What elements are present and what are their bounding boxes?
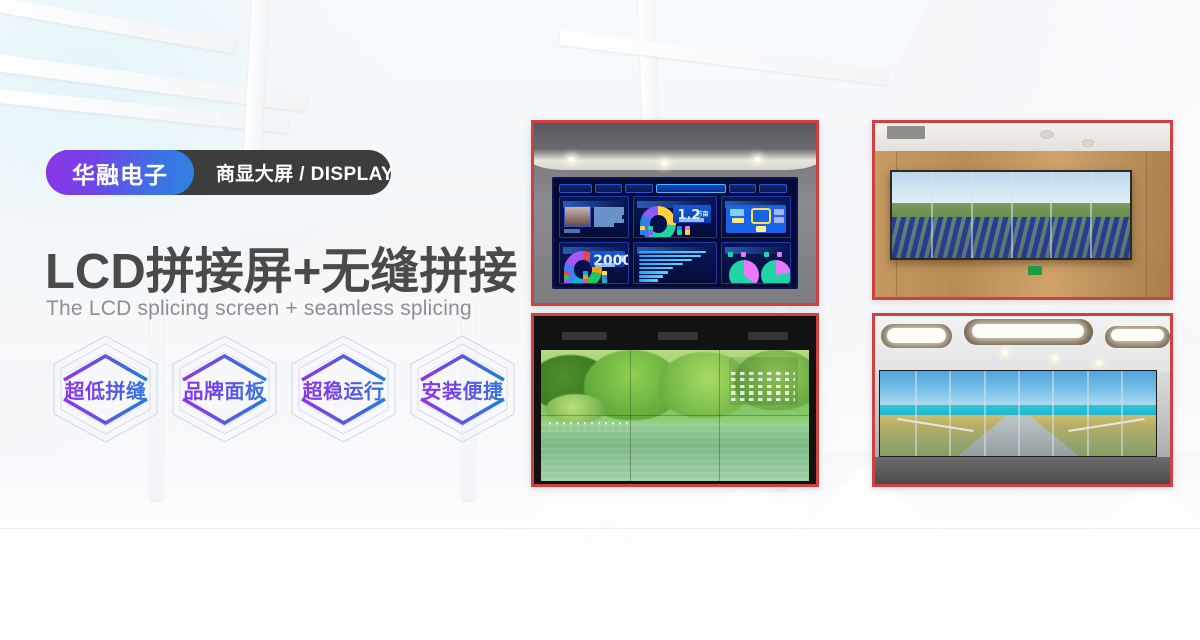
dashboard-metric-unit: 亩 <box>619 254 626 264</box>
ceiling-speaker <box>1040 130 1054 139</box>
pond-water <box>541 424 809 480</box>
brand-category-label: 商显大屏 / DISPLAY <box>194 150 416 195</box>
gallery-photo-solar-video-wall[interactable] <box>872 120 1173 300</box>
gallery-photo-pond-video-wall[interactable] <box>531 313 819 487</box>
feature-badge-3: 安装便捷 <box>403 333 522 445</box>
ceiling-speaker <box>1082 139 1094 147</box>
dashboard-card-grid: 1.2 万亩 <box>559 196 791 284</box>
dashboard-card <box>633 242 718 284</box>
video-wall-screen <box>890 170 1132 260</box>
brand-badge: 华融电子 商显大屏 / DISPLAY <box>46 150 416 195</box>
dashboard-metric-unit: 万亩 <box>696 209 708 218</box>
feature-badge-2: 超稳运行 <box>284 333 403 445</box>
ceiling-vent <box>887 126 925 138</box>
page-title: LCD拼接屏+无缝拼接 <box>45 232 517 303</box>
dashboard-card <box>559 196 628 238</box>
pie-chart <box>761 260 790 284</box>
dashboard-card: 1.2 万亩 <box>633 196 718 238</box>
gallery-photo-beach-video-wall[interactable] <box>872 313 1173 487</box>
video-wall-screen: 1.2 万亩 <box>552 177 797 289</box>
page-subtitle: The LCD splicing screen + seamless splic… <box>46 297 472 321</box>
dashboard-card <box>721 196 790 238</box>
lobby-floor <box>875 457 1170 484</box>
ceiling-light <box>661 161 668 166</box>
ceiling <box>534 123 816 170</box>
ceiling <box>534 316 816 351</box>
exit-sign <box>1028 266 1042 275</box>
ceiling-light <box>1096 360 1102 366</box>
feature-badge-1: 品牌面板 <box>165 333 284 445</box>
cove-light <box>887 328 946 343</box>
dashboard-navbar <box>559 182 791 194</box>
feature-badge-0: 超低拼缝 <box>46 333 165 445</box>
ceiling-light <box>1052 355 1058 361</box>
pie-chart <box>729 260 759 284</box>
calendar-overlay <box>729 357 799 404</box>
feature-label: 品牌面板 <box>165 333 284 445</box>
bar-chart <box>639 251 712 282</box>
dashboard-card <box>721 242 790 284</box>
cove-light <box>972 324 1084 337</box>
video-wall-screen <box>879 370 1156 457</box>
hero-text-block: 华融电子 商显大屏 / DISPLAY LCD拼接屏+无缝拼接 The LCD … <box>0 0 520 640</box>
ceiling-light <box>1002 350 1008 356</box>
dashboard-card: 2000 亩 <box>559 242 628 284</box>
brand-pill: 华融电子 <box>46 150 194 195</box>
video-wall-screen <box>541 350 809 481</box>
feature-label: 超稳运行 <box>284 333 403 445</box>
feature-label: 超低拼缝 <box>46 333 165 445</box>
gallery-photo-control-room[interactable]: 1.2 万亩 <box>531 120 819 306</box>
feature-label: 安装便捷 <box>403 333 522 445</box>
feature-badge-row: 超低拼缝 品牌面板 超稳运行 <box>46 333 522 445</box>
cove-light <box>1111 329 1164 341</box>
